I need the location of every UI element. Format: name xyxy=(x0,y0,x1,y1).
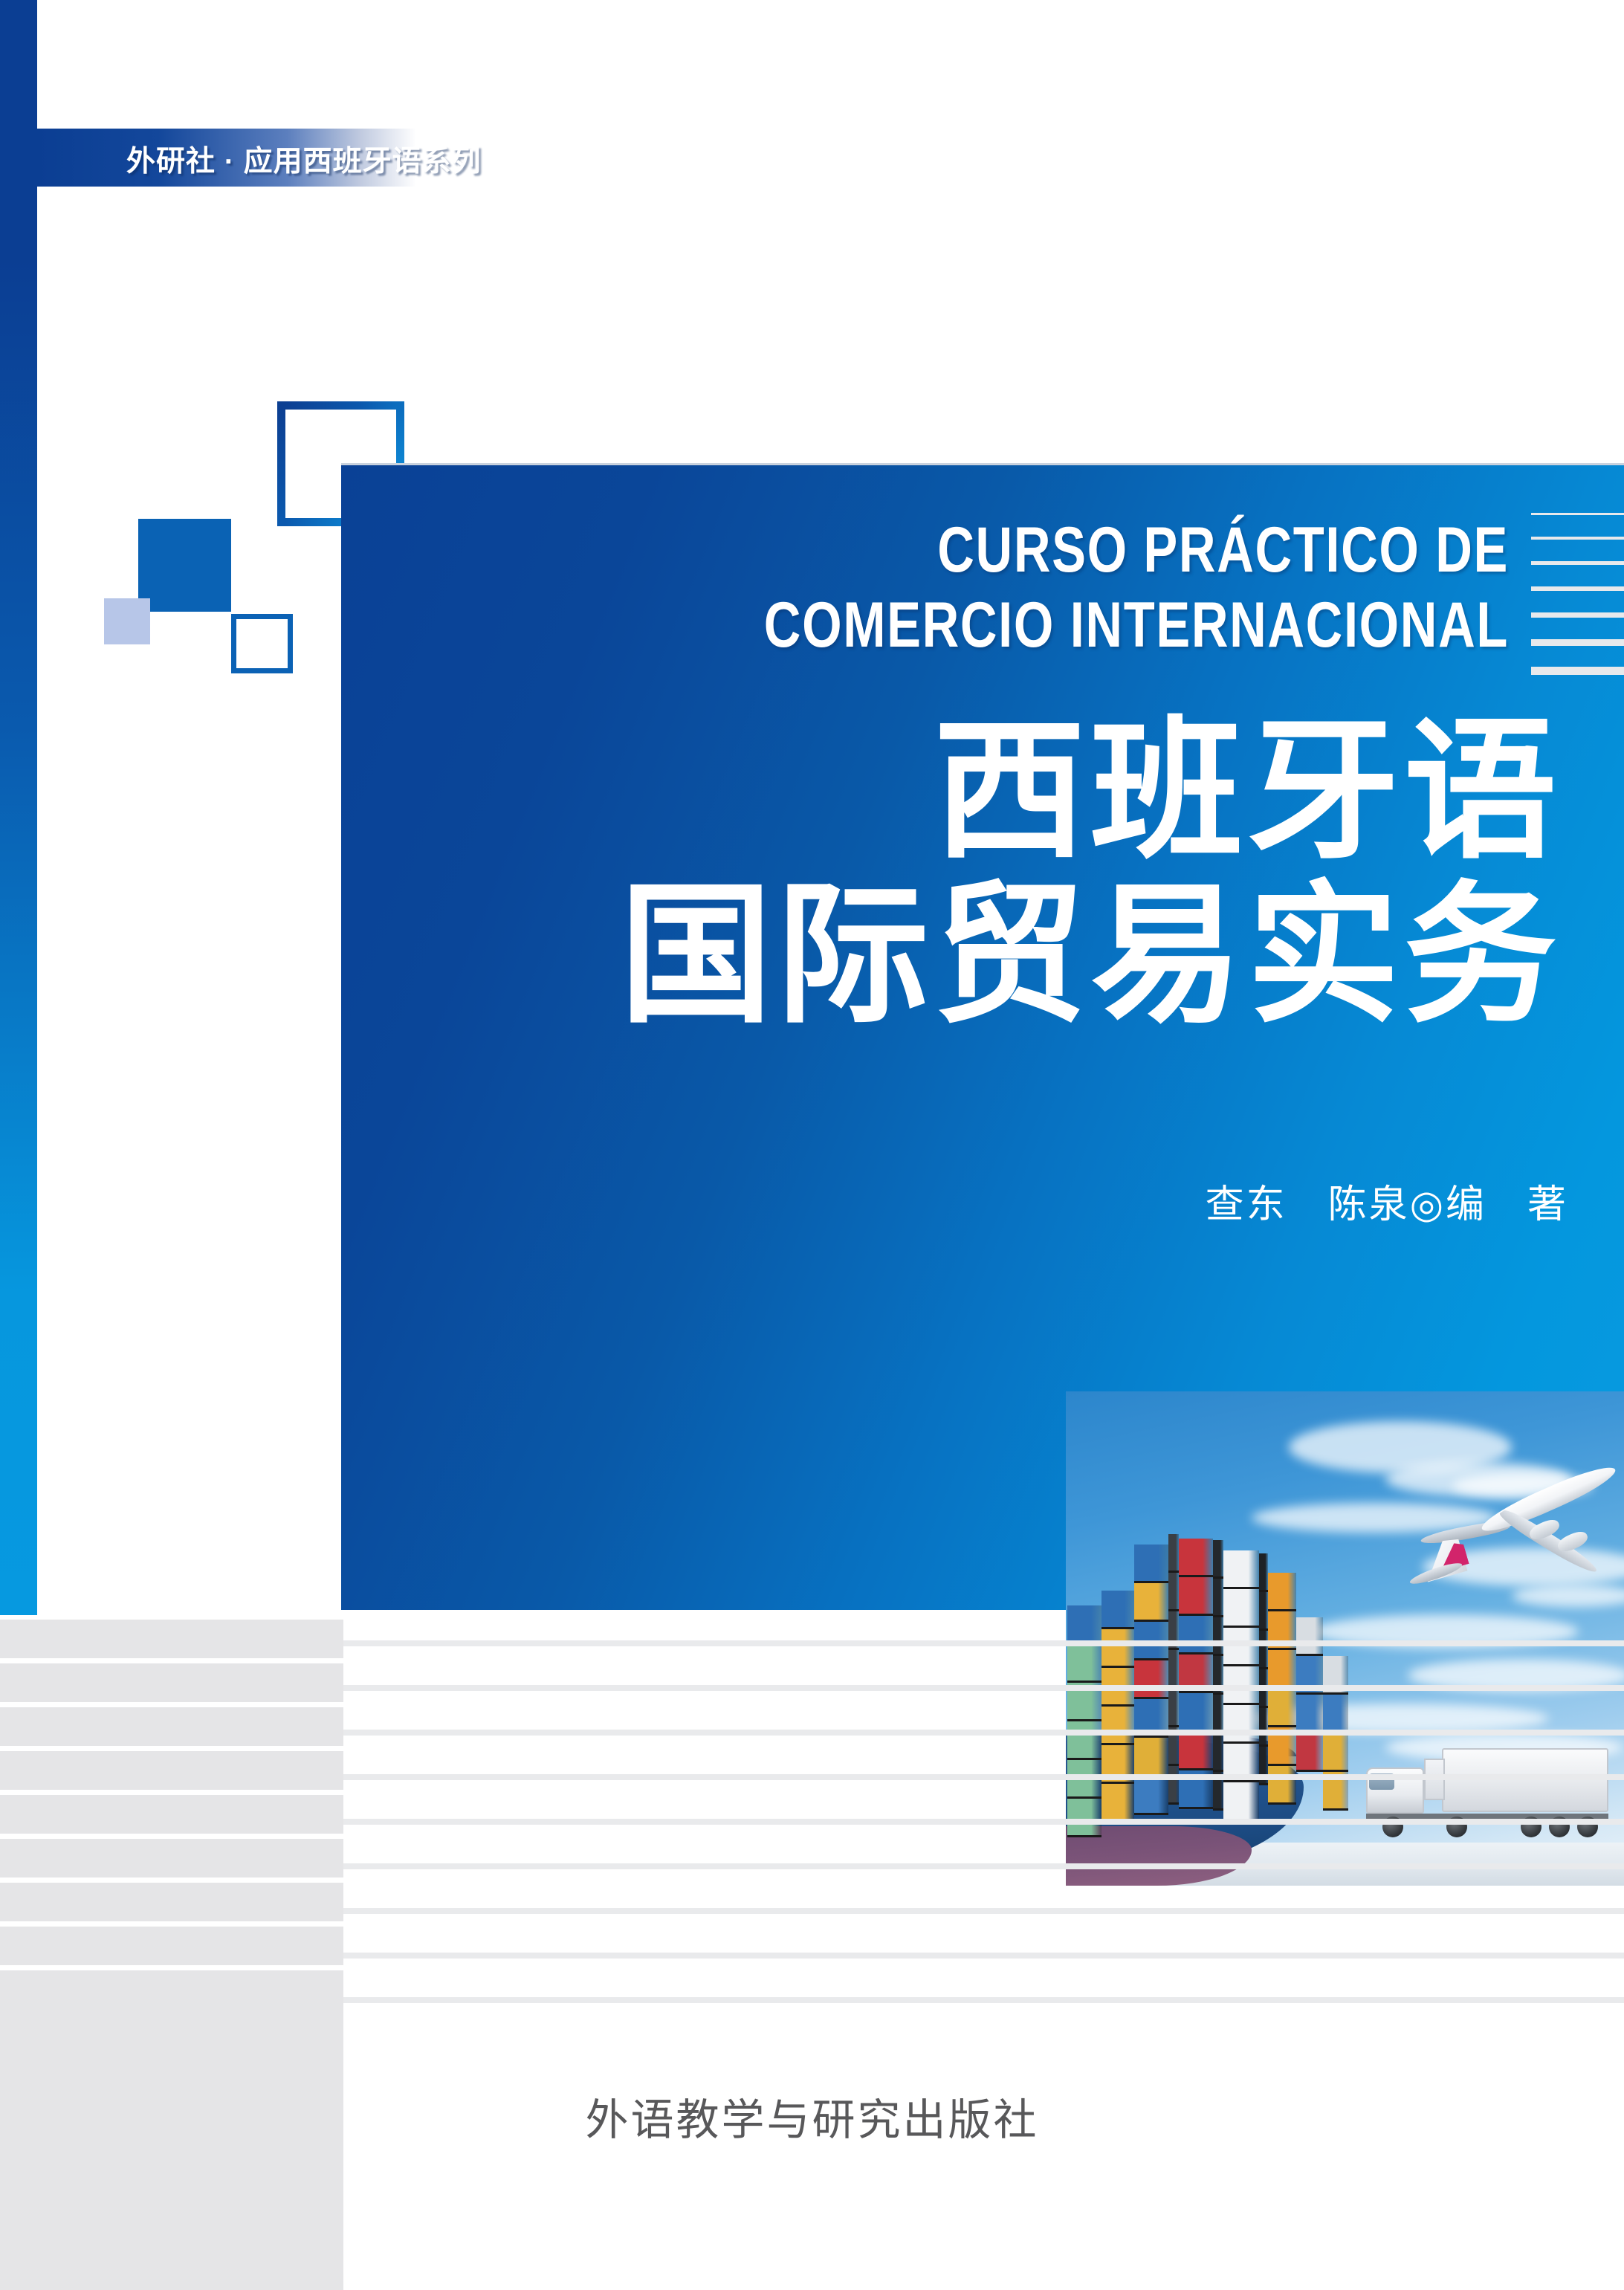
title-line-2: 国际贸易实务 xyxy=(372,874,1561,1038)
photo-plane-main-wing xyxy=(1495,1507,1602,1576)
bottom-stripe-left xyxy=(0,1746,343,1751)
decor-hairlines xyxy=(1531,513,1624,675)
photo-shipping-container xyxy=(1179,1539,1213,1577)
decor-square-lavender xyxy=(104,598,150,644)
book-cover: 外研社 · 应用西班牙语系列 CURSO PRÁCTICO DE COMERCI… xyxy=(0,0,1624,2290)
bottom-stripe-left xyxy=(0,1658,343,1663)
photo-shipping-container xyxy=(1213,1540,1223,1579)
bottom-stripe-left xyxy=(0,1877,343,1883)
bottom-stripe-left xyxy=(0,1965,343,1970)
publisher-name: 外语教学与研究出版社 xyxy=(0,2085,1624,2147)
bottom-stripe-left xyxy=(0,1834,343,1839)
subtitle-line-1: CURSO PRÁCTICO DE xyxy=(937,514,1509,586)
bottom-stripe-right xyxy=(343,1997,1624,2003)
series-label: 外研社 · 应用西班牙语系列 xyxy=(126,138,482,180)
decor-hairline xyxy=(1531,612,1624,618)
photo-shipping-container xyxy=(1168,1573,1179,1611)
subtitle-line-2: COMERCIO INTERNACIONAL xyxy=(302,588,1509,663)
page-title: 西班牙语 国际贸易实务 xyxy=(372,710,1561,1039)
photo-shipping-container xyxy=(1179,1577,1213,1616)
bottom-stripe-left xyxy=(0,1702,343,1707)
bottom-stripes-right xyxy=(343,1614,1624,2003)
decor-square-outline-small xyxy=(231,614,293,673)
bottom-stripe-right xyxy=(343,1908,1624,1914)
photo-shipping-container xyxy=(1268,1573,1296,1611)
title-line-1: 西班牙语 xyxy=(372,710,1561,874)
decor-hairline xyxy=(1531,639,1624,646)
decor-hairline xyxy=(1531,513,1624,515)
bottom-stripe-right xyxy=(343,1953,1624,1959)
decor-hairline xyxy=(1531,537,1624,540)
bottom-stripe-right xyxy=(343,1774,1624,1780)
bottom-stripe-right xyxy=(343,1819,1624,1825)
author-line: 查东 陈泉◎编 著 xyxy=(669,1173,1568,1229)
bottom-stripe-right xyxy=(343,1863,1624,1869)
cyan-accent-tip xyxy=(0,1591,37,1615)
bottom-stripe-right xyxy=(343,1730,1624,1736)
decor-hairline xyxy=(1531,667,1624,675)
photo-shipping-container xyxy=(1213,1579,1223,1617)
photo-shipping-container xyxy=(1134,1545,1168,1583)
photo-shipping-container xyxy=(1168,1534,1179,1573)
photo-shipping-container xyxy=(1223,1550,1259,1589)
bottom-stripe-left xyxy=(0,1921,343,1927)
bottom-stripe-right xyxy=(343,1640,1624,1646)
bottom-stripes-left xyxy=(0,1614,343,1970)
decor-hairline xyxy=(1531,586,1624,591)
decor-square-filled xyxy=(138,519,231,612)
decor-hairline xyxy=(1531,561,1624,565)
photo-shipping-container xyxy=(1259,1553,1268,1592)
left-blue-bar xyxy=(0,0,37,1614)
bottom-stripe-left xyxy=(0,1614,343,1620)
bottom-stripe-right xyxy=(343,1685,1624,1691)
subtitle-spanish: CURSO PRÁCTICO DE COMERCIO INTERNACIONAL xyxy=(302,513,1509,664)
bottom-stripe-left xyxy=(0,1790,343,1795)
photo-cargo-airplane xyxy=(1404,1481,1620,1614)
